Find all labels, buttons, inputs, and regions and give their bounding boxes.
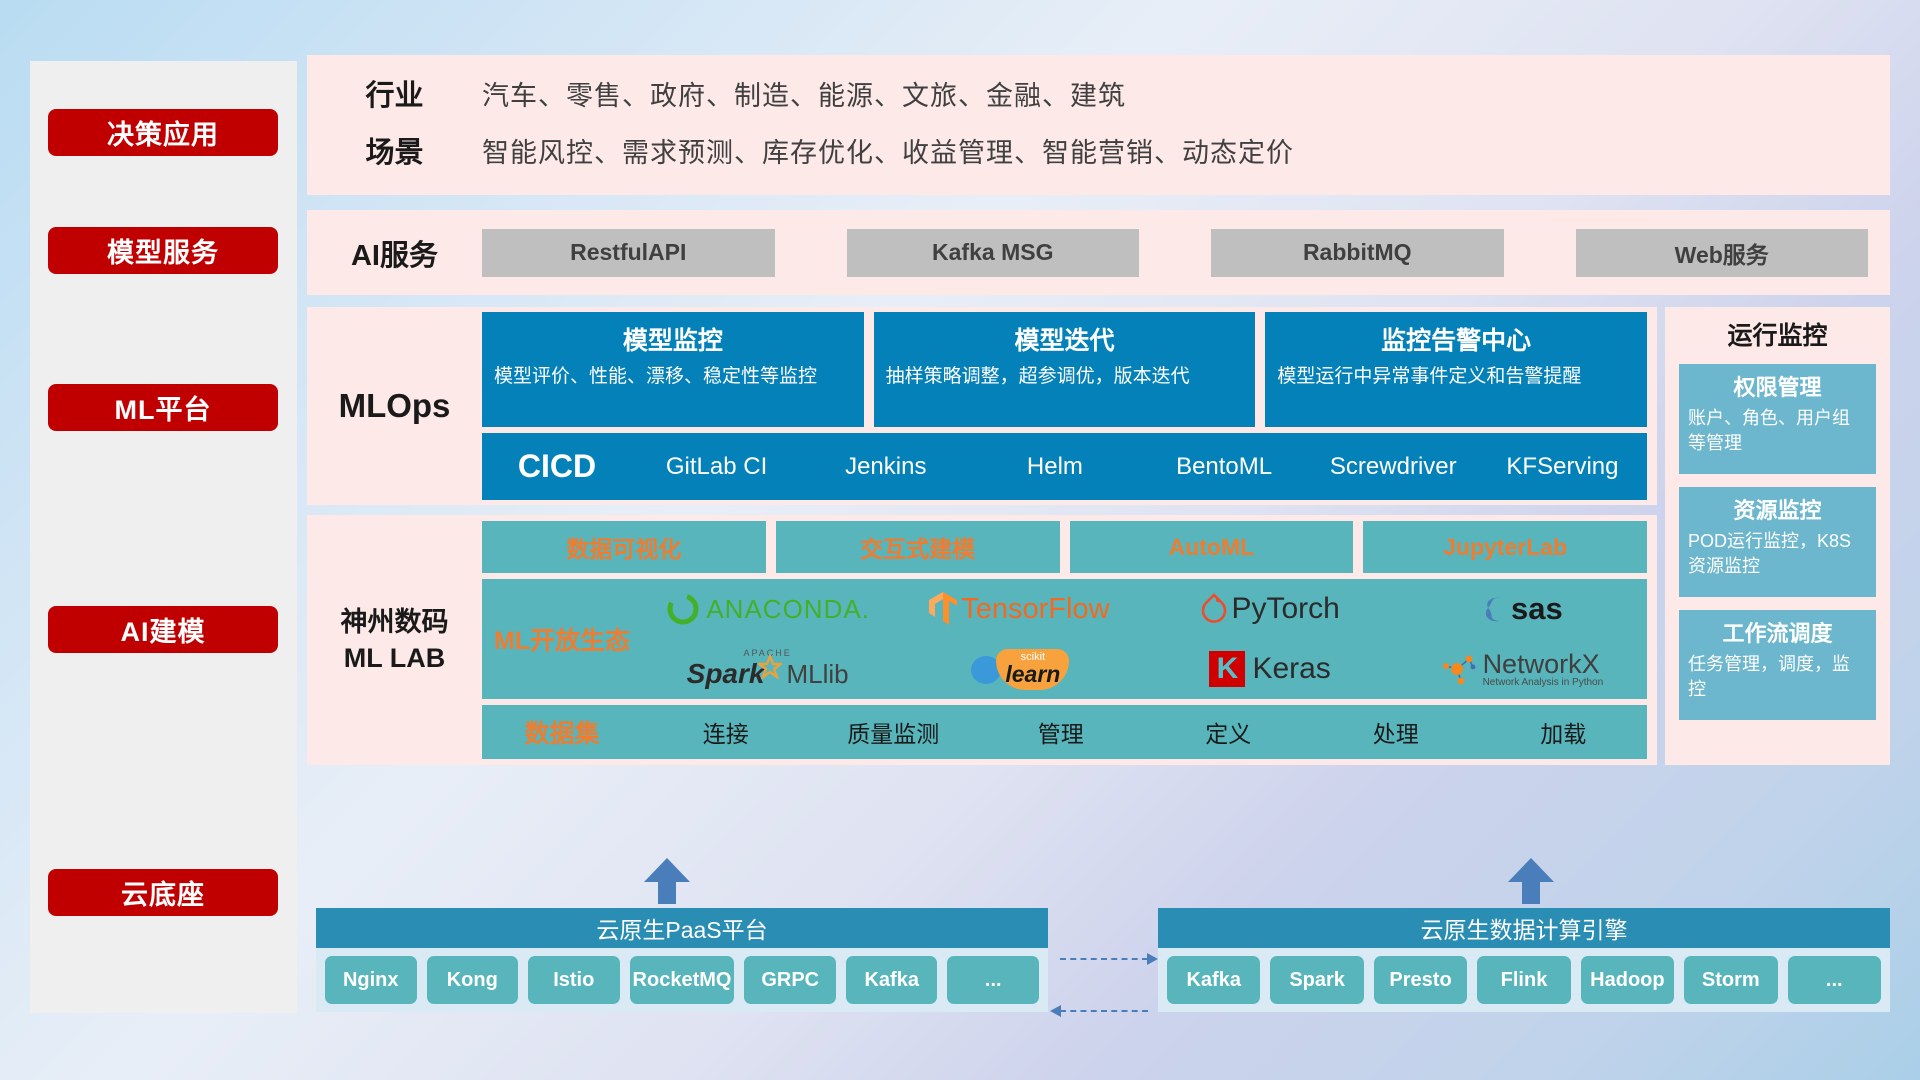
dataset-item-load[interactable]: 加载 bbox=[1480, 715, 1648, 749]
cloud-paas-group: 云原生PaaS平台 Nginx Kong Istio RocketMQ GRPC… bbox=[316, 908, 1048, 1012]
arrow-head-right bbox=[1147, 953, 1158, 965]
sas-wordmark: sas bbox=[1511, 591, 1563, 627]
chip-more-left[interactable]: ... bbox=[947, 956, 1039, 1004]
scikit-learn-badge: scikit learn bbox=[996, 649, 1069, 690]
cloud-paas-title: 云原生PaaS平台 bbox=[316, 908, 1048, 948]
card-desc: 任务管理，调度，监控 bbox=[1688, 652, 1867, 702]
card-title: 资源监控 bbox=[1688, 493, 1867, 525]
engine-to-paas-arrow bbox=[1060, 1010, 1148, 1012]
chip-flink[interactable]: Flink bbox=[1477, 956, 1570, 1004]
pytorch-logo[interactable]: PyTorch bbox=[1145, 592, 1396, 626]
scenario-label: 场景 bbox=[307, 125, 482, 182]
ai-service-box-list: RestfulAPI Kafka MSG RabbitMQ Web服务 bbox=[482, 229, 1890, 277]
chip-grpc[interactable]: GRPC bbox=[744, 956, 836, 1004]
anaconda-wordmark: ANACONDA. bbox=[706, 594, 870, 625]
cloud-paas-chip-list: Nginx Kong Istio RocketMQ GRPC Kafka ... bbox=[316, 948, 1048, 1012]
cicd-item-jenkins[interactable]: Jenkins bbox=[801, 452, 970, 482]
tensorflow-mark-icon bbox=[928, 591, 958, 627]
card-desc: 模型运行中异常事件定义和告警提醒 bbox=[1277, 364, 1635, 390]
dataset-item-process[interactable]: 处理 bbox=[1312, 715, 1480, 749]
logo-row-2: APACHE Spark MLlib bbox=[642, 639, 1647, 699]
chip-kong[interactable]: Kong bbox=[427, 956, 519, 1004]
cloud-data-engine-title: 云原生数据计算引擎 bbox=[1158, 908, 1890, 948]
dataset-item-manage[interactable]: 管理 bbox=[977, 715, 1145, 749]
paas-up-arrow-icon bbox=[644, 858, 690, 904]
ai-service-band: AI服务 RestfulAPI Kafka MSG RabbitMQ Web服务 bbox=[307, 210, 1890, 295]
ml-lab-label: 神州数码 ML LAB bbox=[307, 604, 482, 676]
stack-layer-rail: 决策应用 模型服务 ML平台 AI建模 云底座 bbox=[30, 61, 297, 1013]
service-box-restfulapi[interactable]: RestfulAPI bbox=[482, 229, 775, 277]
cloud-data-engine-group: 云原生数据计算引擎 Kafka Spark Presto Flink Hadoo… bbox=[1158, 908, 1890, 1012]
chip-kafka-right[interactable]: Kafka bbox=[1167, 956, 1260, 1004]
mlops-card-list: 模型监控 模型评价、性能、漂移、稳定性等监控 模型迭代 抽样策略调整，超参调优，… bbox=[482, 312, 1647, 427]
dataset-item-define[interactable]: 定义 bbox=[1145, 715, 1313, 749]
monitor-card-permission[interactable]: 权限管理 账户、角色、用户组等管理 bbox=[1679, 364, 1876, 474]
cicd-item-helm[interactable]: Helm bbox=[970, 452, 1139, 482]
ml-lab-label-line2: ML LAB bbox=[307, 640, 482, 676]
cicd-item-bentoml[interactable]: BentoML bbox=[1140, 452, 1309, 482]
card-title: 监控告警中心 bbox=[1277, 321, 1635, 357]
card-desc: 账户、角色、用户组等管理 bbox=[1688, 406, 1867, 456]
anaconda-logo[interactable]: ANACONDA. bbox=[642, 591, 893, 627]
decision-apps-band: 行业 场景 汽车、零售、政府、制造、能源、文旅、金融、建筑 智能风控、需求预测、… bbox=[307, 55, 1890, 195]
ml-lab-label-line1: 神州数码 bbox=[307, 604, 482, 640]
monitor-card-workflow[interactable]: 工作流调度 任务管理，调度，监控 bbox=[1679, 610, 1876, 720]
card-desc: 模型评价、性能、漂移、稳定性等监控 bbox=[494, 364, 852, 390]
chip-spark[interactable]: Spark bbox=[1270, 956, 1363, 1004]
networkx-tagline: Network Analysis in Python bbox=[1483, 677, 1604, 688]
rail-item-model-service[interactable]: 模型服务 bbox=[48, 227, 278, 274]
pytorch-wordmark: PyTorch bbox=[1231, 592, 1339, 626]
service-box-rabbitmq[interactable]: RabbitMQ bbox=[1211, 229, 1504, 277]
industry-label: 行业 bbox=[307, 68, 482, 125]
rail-item-ml-platform[interactable]: ML平台 bbox=[48, 384, 278, 431]
ml-ecosystem-panel: ML开放生态 ANACONDA. bbox=[482, 579, 1647, 699]
rail-item-ai-modeling[interactable]: AI建模 bbox=[48, 606, 278, 653]
chip-istio[interactable]: Istio bbox=[528, 956, 620, 1004]
mlops-card-model-monitoring[interactable]: 模型监控 模型评价、性能、漂移、稳定性等监控 bbox=[482, 312, 864, 427]
ml-ecosystem-label: ML开放生态 bbox=[482, 621, 642, 657]
cicd-item-gitlab-ci[interactable]: GitLab CI bbox=[632, 452, 801, 482]
sas-logo[interactable]: sas bbox=[1396, 591, 1647, 627]
chip-presto[interactable]: Presto bbox=[1374, 956, 1467, 1004]
tool-box-automl[interactable]: AutoML bbox=[1070, 521, 1354, 573]
keras-logo[interactable]: K Keras bbox=[1145, 651, 1396, 687]
cicd-title: CICD bbox=[482, 448, 632, 485]
dataset-item-connect[interactable]: 连接 bbox=[642, 715, 810, 749]
cicd-bar: CICD GitLab CI Jenkins Helm BentoML Scre… bbox=[482, 433, 1647, 500]
card-title: 模型迭代 bbox=[886, 321, 1244, 357]
rail-item-decision-apps[interactable]: 决策应用 bbox=[48, 109, 278, 156]
ml-lab-stack: 数据可视化 交互式建模 AutoML JupyterLab ML开放生态 ANA… bbox=[482, 521, 1657, 759]
networkx-logo[interactable]: NetworkX Network Analysis in Python bbox=[1396, 651, 1647, 688]
chip-more-right[interactable]: ... bbox=[1788, 956, 1881, 1004]
mlops-card-alert-center[interactable]: 监控告警中心 模型运行中异常事件定义和告警提醒 bbox=[1265, 312, 1647, 427]
ml-lab-tool-list: 数据可视化 交互式建模 AutoML JupyterLab bbox=[482, 521, 1647, 573]
networkx-wordmark: NetworkX bbox=[1483, 651, 1604, 677]
chip-kafka[interactable]: Kafka bbox=[846, 956, 938, 1004]
arrow-head-left bbox=[1050, 1005, 1061, 1017]
networkx-graph-icon bbox=[1440, 652, 1478, 686]
scikit-learn-wordmark: learn bbox=[1005, 663, 1060, 685]
tensorflow-logo[interactable]: TensorFlow bbox=[893, 591, 1144, 627]
cloud-data-engine-chip-list: Kafka Spark Presto Flink Hadoop Storm ..… bbox=[1158, 948, 1890, 1012]
logo-row-1: ANACONDA. TensorFlow bbox=[642, 579, 1647, 639]
card-title: 模型监控 bbox=[494, 321, 852, 357]
scenario-value: 智能风控、需求预测、库存优化、收益管理、智能营销、动态定价 bbox=[482, 125, 1890, 182]
apps-row-values: 汽车、零售、政府、制造、能源、文旅、金融、建筑 智能风控、需求预测、库存优化、收… bbox=[482, 68, 1890, 182]
scikit-learn-logo[interactable]: scikit learn bbox=[893, 649, 1144, 690]
cicd-item-kfserving[interactable]: KFServing bbox=[1478, 452, 1647, 482]
chip-storm[interactable]: Storm bbox=[1684, 956, 1777, 1004]
tool-box-interactive-modeling[interactable]: 交互式建模 bbox=[776, 521, 1060, 573]
dataset-bar: 数据集 连接 质量监测 管理 定义 处理 加载 bbox=[482, 705, 1647, 759]
cicd-item-screwdriver[interactable]: Screwdriver bbox=[1309, 452, 1478, 482]
sas-mark-icon bbox=[1480, 593, 1510, 625]
card-title: 工作流调度 bbox=[1688, 616, 1867, 648]
apps-row-labels: 行业 场景 bbox=[307, 68, 482, 182]
chip-nginx[interactable]: Nginx bbox=[325, 956, 417, 1004]
card-desc: 抽样策略调整，超参调优，版本迭代 bbox=[886, 364, 1244, 390]
dataset-item-quality[interactable]: 质量监测 bbox=[810, 715, 978, 749]
mlops-card-model-iteration[interactable]: 模型迭代 抽样策略调整，超参调优，版本迭代 bbox=[874, 312, 1256, 427]
card-title: 权限管理 bbox=[1688, 370, 1867, 402]
runtime-monitoring-title: 运行监控 bbox=[1679, 316, 1876, 352]
ml-lab-band: 神州数码 ML LAB 数据可视化 交互式建模 AutoML JupyterLa… bbox=[307, 515, 1657, 765]
pytorch-mark-icon bbox=[1200, 592, 1228, 626]
service-box-web[interactable]: Web服务 bbox=[1576, 229, 1869, 277]
data-engine-up-arrow-icon bbox=[1508, 858, 1554, 904]
anaconda-mark-icon bbox=[665, 591, 701, 627]
mlops-stack: 模型监控 模型评价、性能、漂移、稳定性等监控 模型迭代 抽样策略调整，超参调优，… bbox=[482, 312, 1657, 500]
keras-wordmark: Keras bbox=[1252, 652, 1330, 686]
monitor-card-resource[interactable]: 资源监控 POD运行监控，K8S资源监控 bbox=[1679, 487, 1876, 597]
spark-star-icon bbox=[758, 655, 782, 679]
tool-box-jupyterlab[interactable]: JupyterLab bbox=[1363, 521, 1647, 573]
keras-mark-icon: K bbox=[1209, 651, 1245, 687]
dataset-item-list: 连接 质量监测 管理 定义 处理 加载 bbox=[642, 715, 1647, 749]
service-box-kafka-msg[interactable]: Kafka MSG bbox=[847, 229, 1140, 277]
cicd-item-list: GitLab CI Jenkins Helm BentoML Screwdriv… bbox=[632, 452, 1647, 482]
runtime-monitoring-panel: 运行监控 权限管理 账户、角色、用户组等管理 资源监控 POD运行监控，K8S资… bbox=[1665, 307, 1890, 765]
spark-mllib-logo[interactable]: APACHE Spark MLlib bbox=[642, 648, 893, 690]
ml-ecosystem-logo-grid: ANACONDA. TensorFlow bbox=[642, 579, 1647, 699]
chip-hadoop[interactable]: Hadoop bbox=[1581, 956, 1674, 1004]
industry-value: 汽车、零售、政府、制造、能源、文旅、金融、建筑 bbox=[482, 68, 1890, 125]
mlops-band: MLOps 模型监控 模型评价、性能、漂移、稳定性等监控 模型迭代 抽样策略调整… bbox=[307, 307, 1657, 505]
tensorflow-wordmark: TensorFlow bbox=[961, 593, 1109, 626]
chip-rocketmq[interactable]: RocketMQ bbox=[630, 956, 735, 1004]
paas-to-engine-arrow bbox=[1060, 958, 1148, 960]
mlops-label: MLOps bbox=[307, 387, 482, 425]
rail-item-cloud-base[interactable]: 云底座 bbox=[48, 869, 278, 916]
tool-box-data-visualization[interactable]: 数据可视化 bbox=[482, 521, 766, 573]
dataset-title: 数据集 bbox=[482, 714, 642, 750]
ai-service-label: AI服务 bbox=[307, 232, 482, 274]
card-desc: POD运行监控，K8S资源监控 bbox=[1688, 529, 1867, 579]
